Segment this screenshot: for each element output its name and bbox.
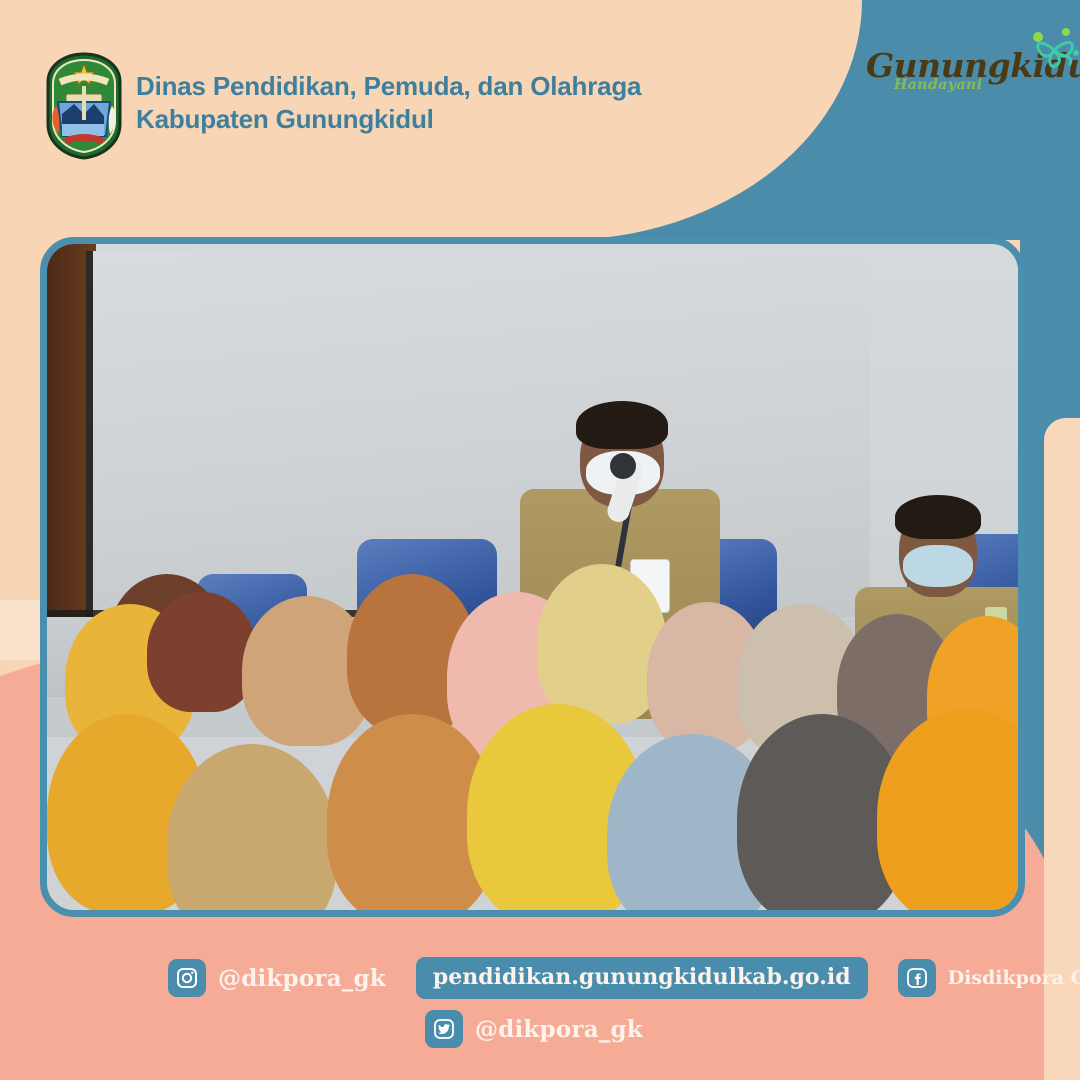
social-row-twitter: @dikpora_gk — [425, 1010, 643, 1048]
poster-header: Dinas Pendidikan, Pemuda, dan Olahraga K… — [0, 0, 1080, 200]
instagram-icon[interactable] — [168, 959, 206, 997]
regency-emblem-icon — [40, 52, 128, 160]
facebook-page-name[interactable]: Disdikpora Gunungkidul — [948, 967, 1080, 989]
twitter-handle[interactable]: @dikpora_gk — [475, 1016, 643, 1043]
social-footer: @dikpora_gk pendidikan.gunungkidulkab.go… — [0, 930, 1080, 1080]
twitter-icon[interactable] — [425, 1010, 463, 1048]
photo-audience-member — [147, 592, 257, 712]
photo-official-hair — [895, 495, 981, 539]
page-title: Dinas Pendidikan, Pemuda, dan Olahraga K… — [136, 70, 776, 136]
seminar-photo-card — [40, 237, 1025, 917]
instagram-handle[interactable]: @dikpora_gk — [218, 965, 386, 992]
seminar-photograph — [47, 244, 1018, 910]
photo-official-face-mask — [903, 545, 973, 587]
website-url-pill[interactable]: pendidikan.gunungkidulkab.go.id — [416, 957, 868, 999]
background-cream-sliver — [0, 600, 40, 660]
facebook-entry[interactable]: Disdikpora Gunungkidul — [898, 959, 1080, 997]
social-row-primary: @dikpora_gk pendidikan.gunungkidulkab.go… — [168, 957, 1080, 999]
photo-speaker-hair — [576, 401, 668, 449]
photo-microphone-head — [610, 453, 636, 479]
poster-canvas: Dinas Pendidikan, Pemuda, dan Olahraga K… — [0, 0, 1080, 1080]
title-line-1: Dinas Pendidikan, Pemuda, dan Olahraga — [136, 70, 776, 103]
brand-tagline: Handayani — [894, 77, 1066, 93]
facebook-icon[interactable] — [898, 959, 936, 997]
title-line-2: Kabupaten Gunungkidul — [136, 103, 776, 136]
gunungkidul-brand-logo: Gunungkidul Handayani — [866, 48, 1066, 118]
butterfly-flourish-icon — [1024, 20, 1080, 74]
